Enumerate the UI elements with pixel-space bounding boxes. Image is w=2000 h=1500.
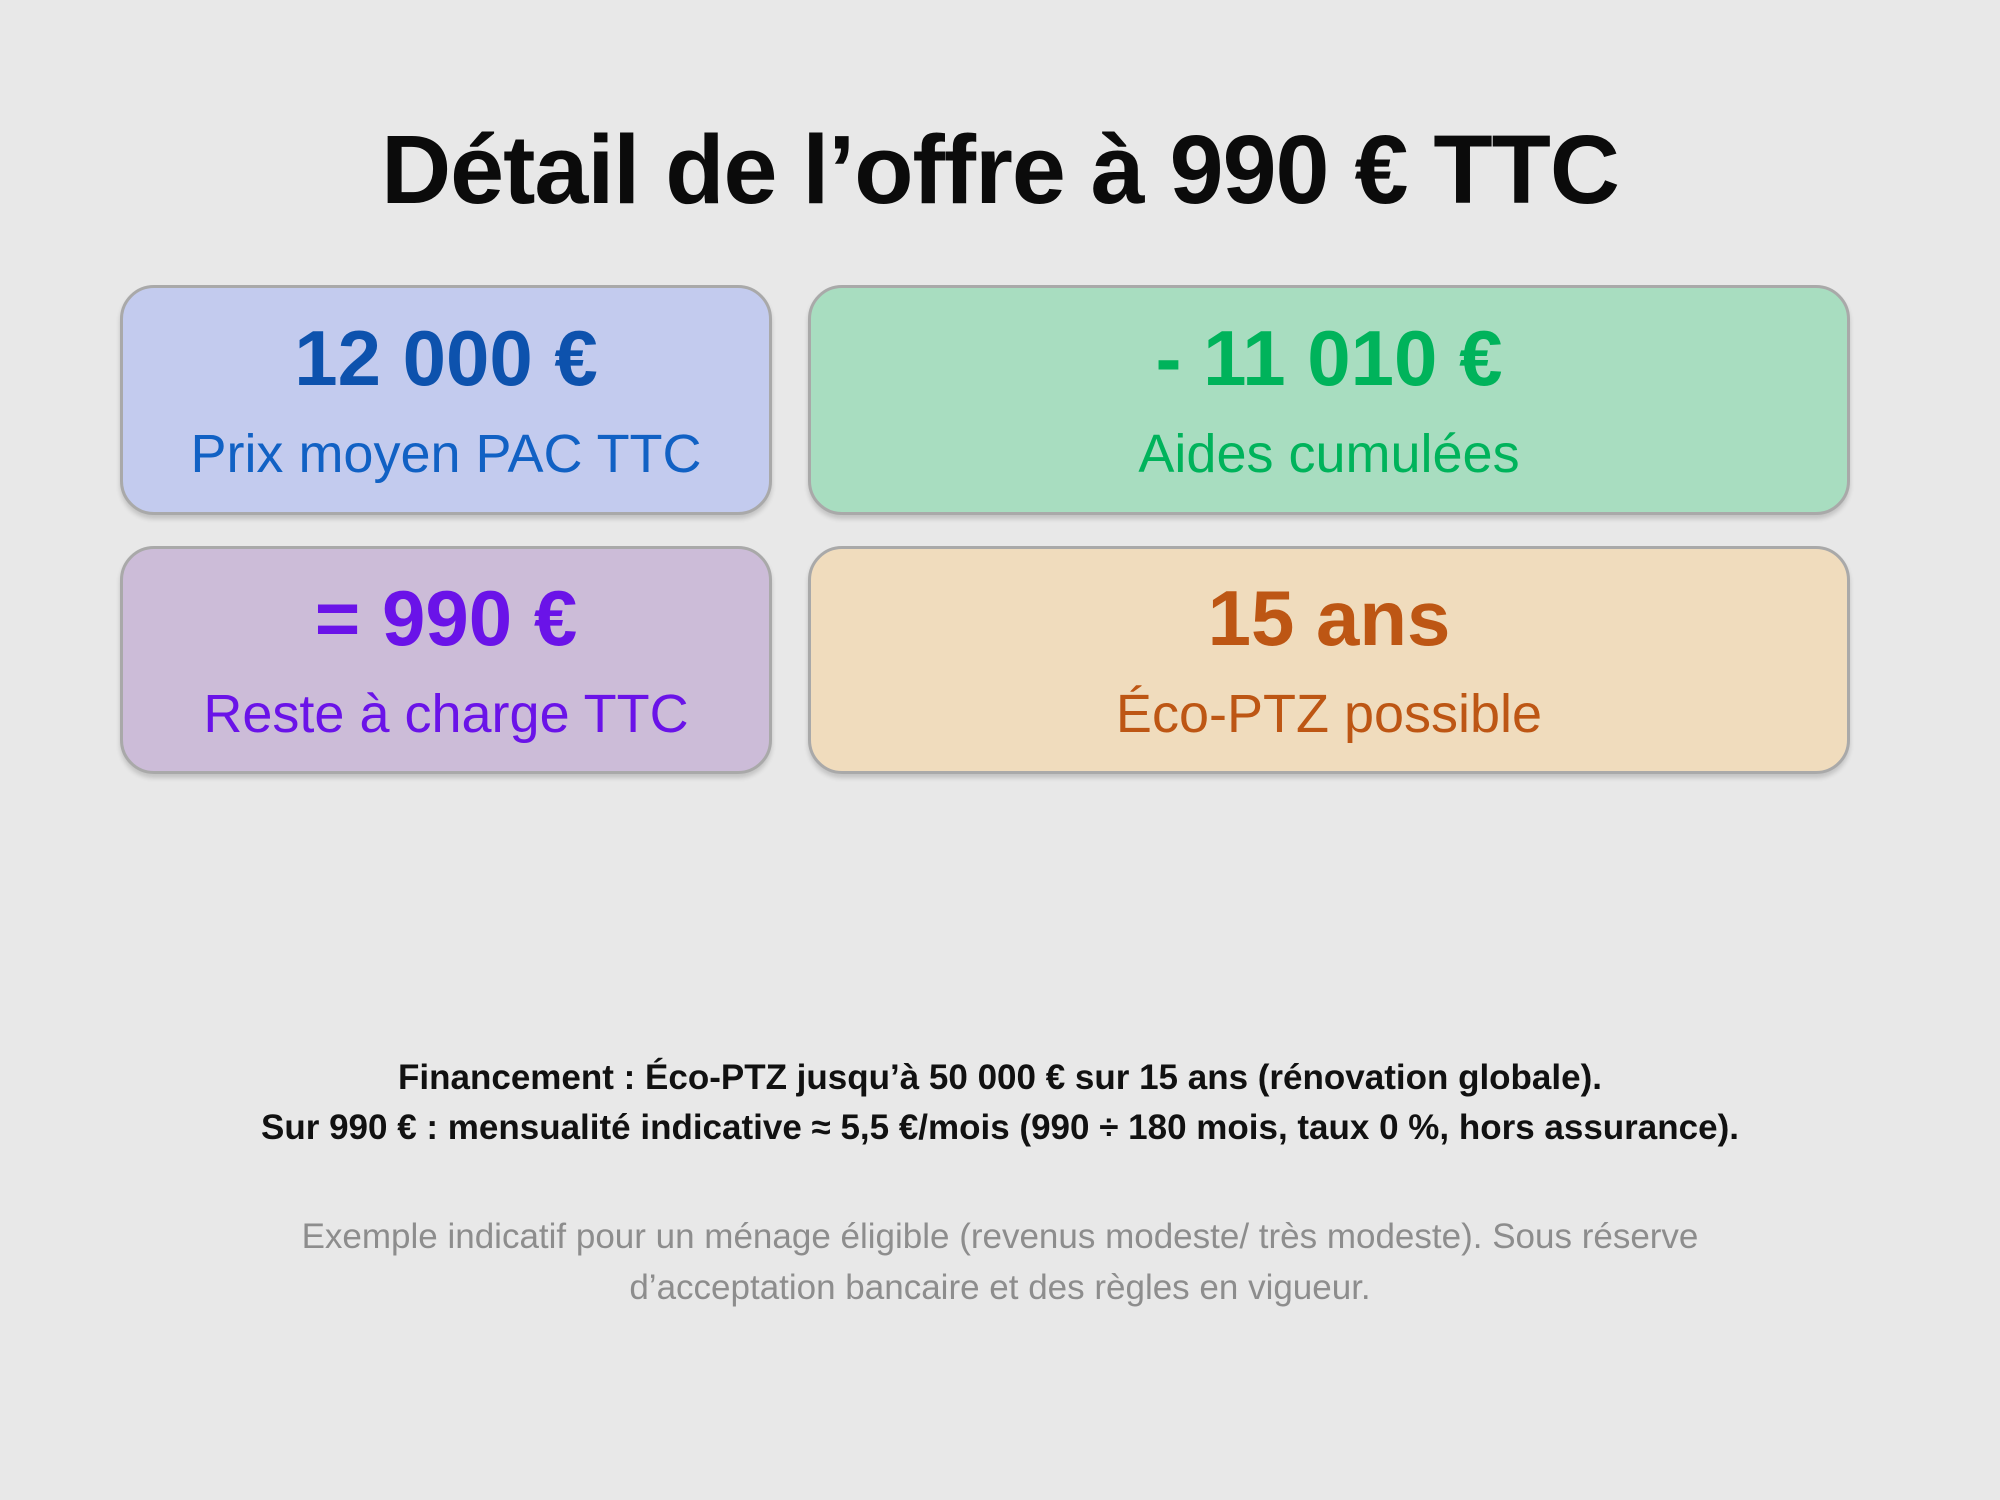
card-reste-a-charge-value: = 990 € xyxy=(315,579,577,657)
card-prix-moyen-pac-value: 12 000 € xyxy=(294,319,598,397)
infographic-page: Détail de l’offre à 990 € TTC 12 000 € P… xyxy=(0,0,2000,1500)
offer-breakdown-grid: 12 000 € Prix moyen PAC TTC - 11 010 € A… xyxy=(120,285,1850,774)
card-aides-cumulees: - 11 010 € Aides cumulées xyxy=(808,285,1850,515)
card-aides-cumulees-value: - 11 010 € xyxy=(1156,319,1503,397)
financing-note-line-2: Sur 990 € : mensualité indicative ≈ 5,5 … xyxy=(0,1103,2000,1153)
disclaimer-text: Exemple indicatif pour un ménage éligibl… xyxy=(200,1212,1800,1314)
card-reste-a-charge: = 990 € Reste à charge TTC xyxy=(120,546,772,774)
card-aides-cumulees-label: Aides cumulées xyxy=(1138,427,1519,481)
card-prix-moyen-pac-label: Prix moyen PAC TTC xyxy=(190,427,701,481)
card-eco-ptz-label: Éco-PTZ possible xyxy=(1116,687,1542,741)
financing-note: Financement : Éco-PTZ jusqu’à 50 000 € s… xyxy=(0,1053,2000,1152)
page-title: Détail de l’offre à 990 € TTC xyxy=(0,118,2000,223)
card-eco-ptz-value: 15 ans xyxy=(1208,579,1451,657)
card-prix-moyen-pac: 12 000 € Prix moyen PAC TTC xyxy=(120,285,772,515)
card-reste-a-charge-label: Reste à charge TTC xyxy=(203,687,688,741)
disclaimer-line-2: d’acceptation bancaire et des règles en … xyxy=(200,1263,1800,1314)
disclaimer-line-1: Exemple indicatif pour un ménage éligibl… xyxy=(200,1212,1800,1263)
card-eco-ptz: 15 ans Éco-PTZ possible xyxy=(808,546,1850,774)
financing-note-line-1: Financement : Éco-PTZ jusqu’à 50 000 € s… xyxy=(0,1053,2000,1103)
